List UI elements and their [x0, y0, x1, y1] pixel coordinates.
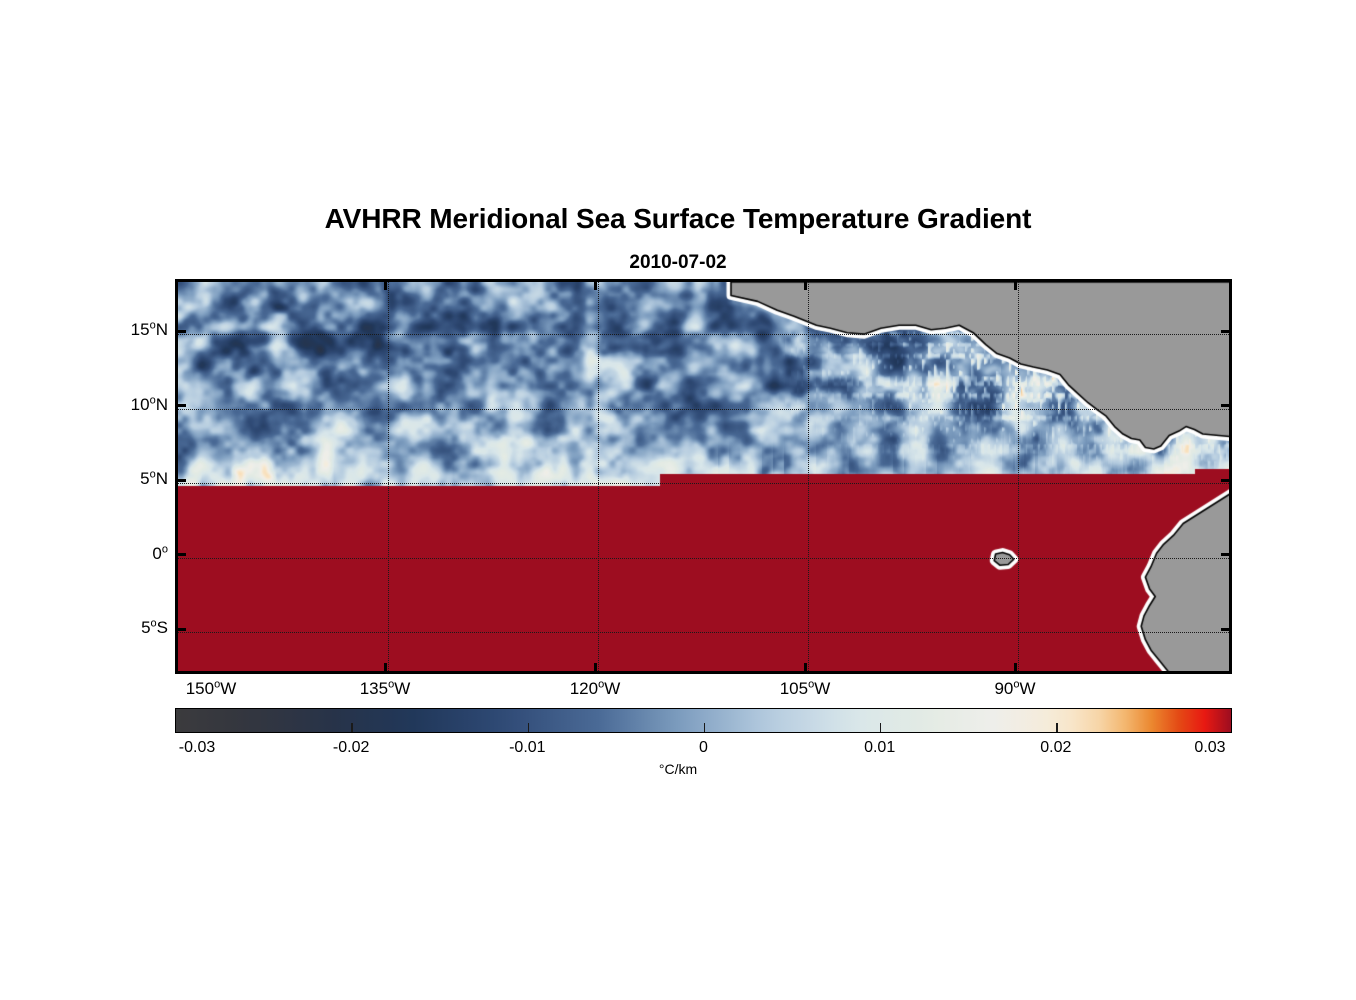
ytick-mark-right [1221, 628, 1232, 631]
colorbar-unit-label: °C/km [0, 761, 1356, 777]
xtick-label: 105oW [780, 679, 831, 699]
colorbar-tick [528, 723, 530, 732]
ytick-mark-left [175, 553, 186, 556]
ytick-mark-left [175, 628, 186, 631]
xtick-label: 135oW [360, 679, 411, 699]
ytick-mark-right [1221, 479, 1232, 482]
ytick-label: 5oS [141, 618, 168, 638]
colorbar-tick [880, 723, 882, 732]
xtick-mark-bottom [1014, 663, 1017, 674]
colorbar[interactable] [175, 708, 1232, 733]
xtick-mark-top [804, 279, 807, 290]
ytick-label: 5oN [140, 469, 168, 489]
xtick-label: 90oW [994, 679, 1035, 699]
colorbar-tick-label: 0.03 [1194, 739, 1225, 757]
ytick-label: 0o [152, 544, 168, 564]
colorbar-tick-label: 0 [699, 739, 708, 757]
colorbar-tick [1056, 723, 1058, 732]
ytick-mark-left [175, 404, 186, 407]
page-subtitle: 2010-07-02 [0, 252, 1356, 274]
ytick-mark-left [175, 330, 186, 333]
colorbar-tick-label: -0.02 [333, 739, 369, 757]
sst-gradient-heatmap [178, 282, 1232, 674]
xtick-mark-top [594, 279, 597, 290]
xtick-mark-top [1014, 279, 1017, 290]
xtick-mark-bottom [804, 663, 807, 674]
map-plot-area[interactable] [175, 279, 1232, 674]
xtick-label: 150oW [186, 679, 237, 699]
colorbar-tick-label: 0.02 [1040, 739, 1071, 757]
ytick-mark-right [1221, 330, 1232, 333]
ytick-mark-right [1221, 404, 1232, 407]
colorbar-tick-label: -0.03 [179, 739, 215, 757]
colorbar-tick [704, 723, 706, 732]
colorbar-tick-label: -0.01 [509, 739, 545, 757]
xtick-mark-bottom [384, 663, 387, 674]
page-title: AVHRR Meridional Sea Surface Temperature… [0, 203, 1356, 235]
colorbar-tick [351, 723, 353, 732]
ytick-label: 15oN [131, 320, 168, 340]
ytick-mark-right [1221, 553, 1232, 556]
figure-root: AVHRR Meridional Sea Surface Temperature… [0, 0, 1356, 1000]
colorbar-tick-label: 0.01 [864, 739, 895, 757]
ytick-label: 10oN [131, 395, 168, 415]
ytick-mark-left [175, 479, 186, 482]
xtick-label: 120oW [570, 679, 621, 699]
xtick-mark-bottom [594, 663, 597, 674]
xtick-mark-top [384, 279, 387, 290]
